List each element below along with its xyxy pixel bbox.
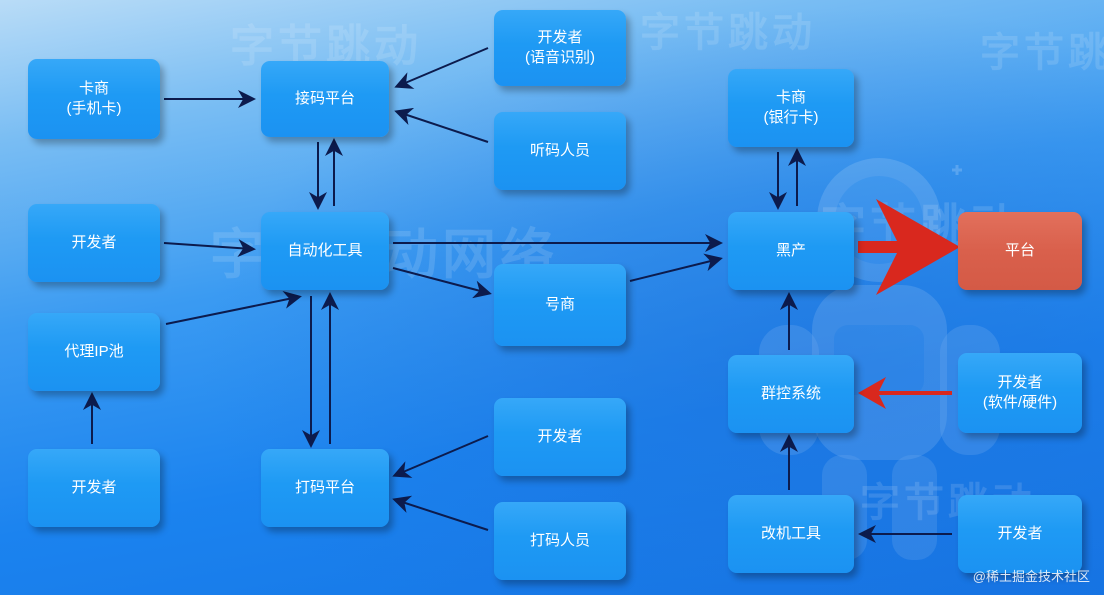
node-label-line: 自动化工具 [287, 241, 362, 261]
node-label-line: 黑产 [776, 241, 806, 261]
watermark-text: 字节跳动 [640, 0, 816, 58]
node-label-line: (语音识别) [525, 48, 595, 68]
node-label: 开发者 [71, 478, 116, 498]
node-label: 开发者 [71, 233, 116, 253]
node-label: 卡商(手机卡) [67, 79, 122, 120]
node-label-line: 接码平台 [295, 89, 355, 109]
node-label: 开发者(软件/硬件) [983, 373, 1057, 414]
node-label: 打码人员 [530, 531, 590, 551]
watermark-text: 字节跳动 [980, 20, 1104, 78]
node-label: 群控系统 [761, 384, 821, 404]
edge-sms-worker-to-sms-platform [398, 112, 488, 142]
node-developer-soft-hard: 开发者(软件/硬件) [958, 353, 1082, 433]
node-label-line: (手机卡) [67, 99, 122, 119]
node-label-line: 打码人员 [530, 531, 590, 551]
edge-number-merchant-to-blackmarket [630, 259, 719, 281]
node-developer-device: 开发者 [958, 495, 1082, 573]
node-label-line: 群控系统 [761, 384, 821, 404]
node-label: 开发者 [537, 427, 582, 447]
node-label-line: 开发者 [997, 524, 1042, 544]
node-label: 平台 [1005, 241, 1035, 261]
node-label-line: 代理IP池 [64, 342, 123, 362]
node-label: 卡商(银行卡) [764, 88, 819, 129]
diagram-canvas: 字节跳动字节跳动字节跳动字节跳动网络字节跳动字节跳动 卡商(手机卡)接码平台开发… [0, 0, 1104, 595]
node-label: 开发者 [997, 524, 1042, 544]
node-label: 黑产 [776, 241, 806, 261]
node-label-line: 听码人员 [530, 141, 590, 161]
node-card-merchant-phone: 卡商(手机卡) [28, 59, 160, 139]
node-label: 听码人员 [530, 141, 590, 161]
node-label-line: 开发者 [525, 28, 595, 48]
node-label-line: 开发者 [71, 478, 116, 498]
node-label-line: 卡商 [67, 79, 122, 99]
node-label-line: 开发者 [71, 233, 116, 253]
node-developer-voice: 开发者(语音识别) [494, 10, 626, 86]
node-label-line: 开发者 [537, 427, 582, 447]
node-label: 自动化工具 [287, 241, 362, 261]
edge-automation-to-number-merchant [393, 268, 488, 293]
node-black-market: 黑产 [728, 212, 854, 290]
node-developer-captcha: 开发者 [494, 398, 626, 476]
node-label-line: 号商 [545, 295, 575, 315]
node-card-merchant-bank: 卡商(银行卡) [728, 69, 854, 147]
node-sms-receive-platform: 接码平台 [261, 61, 389, 137]
node-label-line: (软件/硬件) [983, 393, 1057, 413]
node-label: 接码平台 [295, 89, 355, 109]
node-label-line: 卡商 [764, 88, 819, 108]
edge-developer-voice-to-sms-platform [398, 48, 488, 86]
node-label-line: (银行卡) [764, 108, 819, 128]
node-crowd-control-system: 群控系统 [728, 355, 854, 433]
node-captcha-platform: 打码平台 [261, 449, 389, 527]
node-label: 改机工具 [761, 524, 821, 544]
edge-developer-to-automation [164, 243, 252, 249]
node-number-merchant: 号商 [494, 264, 626, 346]
node-developer-tools: 开发者 [28, 204, 160, 282]
node-sms-listener-staff: 听码人员 [494, 112, 626, 190]
edge-developer-captcha-to-captcha [396, 436, 488, 475]
node-label-line: 打码平台 [295, 478, 355, 498]
node-platform: 平台 [958, 212, 1082, 290]
node-label-line: 平台 [1005, 241, 1035, 261]
node-label: 代理IP池 [64, 342, 123, 362]
edge-proxy-to-automation [166, 297, 298, 324]
node-label-line: 改机工具 [761, 524, 821, 544]
node-captcha-staff: 打码人员 [494, 502, 626, 580]
node-automation-tool: 自动化工具 [261, 212, 389, 290]
node-developer-proxy: 开发者 [28, 449, 160, 527]
node-proxy-ip-pool: 代理IP池 [28, 313, 160, 391]
node-label: 开发者(语音识别) [525, 28, 595, 69]
node-label-line: 开发者 [983, 373, 1057, 393]
node-label: 号商 [545, 295, 575, 315]
edge-captcha-staff-to-captcha [396, 500, 488, 530]
node-device-modify-tool: 改机工具 [728, 495, 854, 573]
node-label: 打码平台 [295, 478, 355, 498]
